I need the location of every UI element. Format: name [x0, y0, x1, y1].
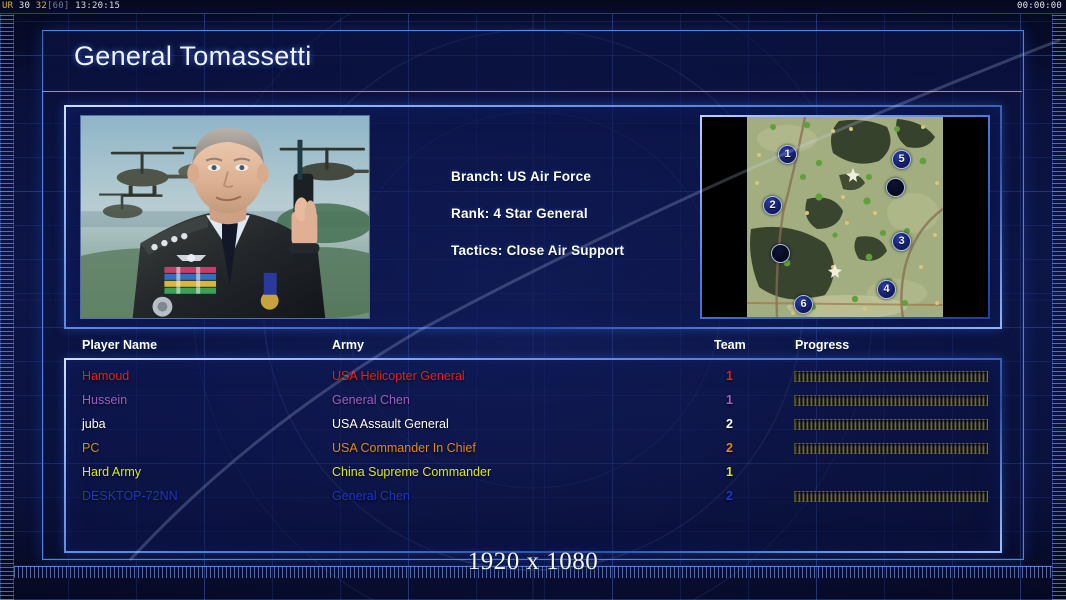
table-row: PCUSA Commander In Chief2 — [66, 436, 1000, 460]
minimap-start-position-5: 5 — [892, 150, 911, 169]
status-prefix: UR — [2, 1, 13, 11]
progress-bar — [794, 395, 988, 406]
minimap-frame: 123456 — [700, 115, 990, 319]
minimap-start-position-6: 6 — [794, 295, 813, 314]
table-row: Hard ArmyChina Supreme Commander1 — [66, 460, 1000, 484]
column-header-player-name: Player Name — [82, 338, 157, 352]
player-team-cell: 1 — [726, 460, 733, 484]
progress-bar — [794, 443, 988, 454]
player-name-cell: PC — [82, 436, 99, 460]
table-row: HusseinGeneral Chen1 — [66, 388, 1000, 412]
player-progress-cell — [794, 371, 988, 382]
minimap-start-position-1: 1 — [778, 145, 797, 164]
player-name-cell: Hard Army — [82, 460, 141, 484]
player-name-cell: DESKTOP-72NN — [82, 484, 178, 508]
ruler-right — [1052, 14, 1066, 600]
player-army-cell: General Chen — [332, 484, 410, 508]
status-value-2: 32 — [36, 1, 47, 11]
general-portrait-image — [81, 116, 369, 319]
minimap-start-position-3: 3 — [892, 232, 911, 251]
player-team-cell: 2 — [726, 484, 733, 508]
general-info-panel: Branch: US Air Force Rank: 4 Star Genera… — [64, 105, 1002, 329]
resolution-label: 1920 x 1080 — [0, 548, 1066, 576]
minimap-marker-blank — [886, 178, 905, 197]
loading-screen: UR 30 32[60] 13:20:15 00:00:00 General T… — [0, 0, 1066, 600]
player-table-headers: Player Name Army Team Progress — [64, 338, 1002, 360]
minimap-start-position-4: 4 — [877, 280, 896, 299]
player-army-cell: USA Commander In Chief — [332, 436, 476, 460]
player-progress-cell — [794, 419, 988, 430]
player-progress-cell — [794, 467, 988, 478]
status-strip: UR 30 32[60] 13:20:15 00:00:00 — [0, 0, 1066, 13]
minimap-start-position-2: 2 — [763, 196, 782, 215]
player-army-cell: USA Helicopter General — [332, 364, 465, 388]
status-value-1: 30 — [19, 1, 30, 11]
status-bracket: [60] — [47, 1, 69, 11]
table-row: jubaUSA Assault General2 — [66, 412, 1000, 436]
table-row: HamoudUSA Helicopter General1 — [66, 364, 1000, 388]
player-team-cell: 2 — [726, 436, 733, 460]
player-list-panel: HamoudUSA Helicopter General1HusseinGene… — [64, 358, 1002, 553]
player-team-cell: 1 — [726, 364, 733, 388]
player-rows: HamoudUSA Helicopter General1HusseinGene… — [66, 364, 1000, 508]
minimap-terrain — [747, 117, 943, 317]
player-team-cell: 1 — [726, 388, 733, 412]
player-name-cell: juba — [82, 412, 106, 436]
progress-bar — [794, 491, 988, 502]
player-progress-cell — [794, 491, 988, 502]
minimap-marker-blank — [771, 244, 790, 263]
player-name-cell: Hussein — [82, 388, 127, 412]
status-clock: 13:20:15 — [75, 1, 120, 11]
player-progress-cell — [794, 395, 988, 406]
column-header-progress: Progress — [795, 338, 849, 352]
progress-bar — [794, 419, 988, 430]
column-header-team: Team — [714, 338, 746, 352]
ruler-left — [0, 14, 14, 600]
player-team-cell: 2 — [726, 412, 733, 436]
player-army-cell: China Supreme Commander — [332, 460, 491, 484]
player-name-cell: Hamoud — [82, 364, 129, 388]
page-title: General Tomassetti — [74, 41, 312, 72]
table-row: DESKTOP-72NNGeneral Chen2 — [66, 484, 1000, 508]
status-left-readout: UR 30 32[60] 13:20:15 — [2, 0, 120, 13]
player-army-cell: General Chen — [332, 388, 410, 412]
match-timer: 00:00:00 — [1017, 0, 1062, 13]
progress-bar — [794, 371, 988, 382]
title-bar: General Tomassetti — [42, 31, 1022, 92]
general-portrait-frame — [80, 115, 370, 319]
player-army-cell: USA Assault General — [332, 412, 449, 436]
player-progress-cell — [794, 443, 988, 454]
column-header-army: Army — [332, 338, 364, 352]
